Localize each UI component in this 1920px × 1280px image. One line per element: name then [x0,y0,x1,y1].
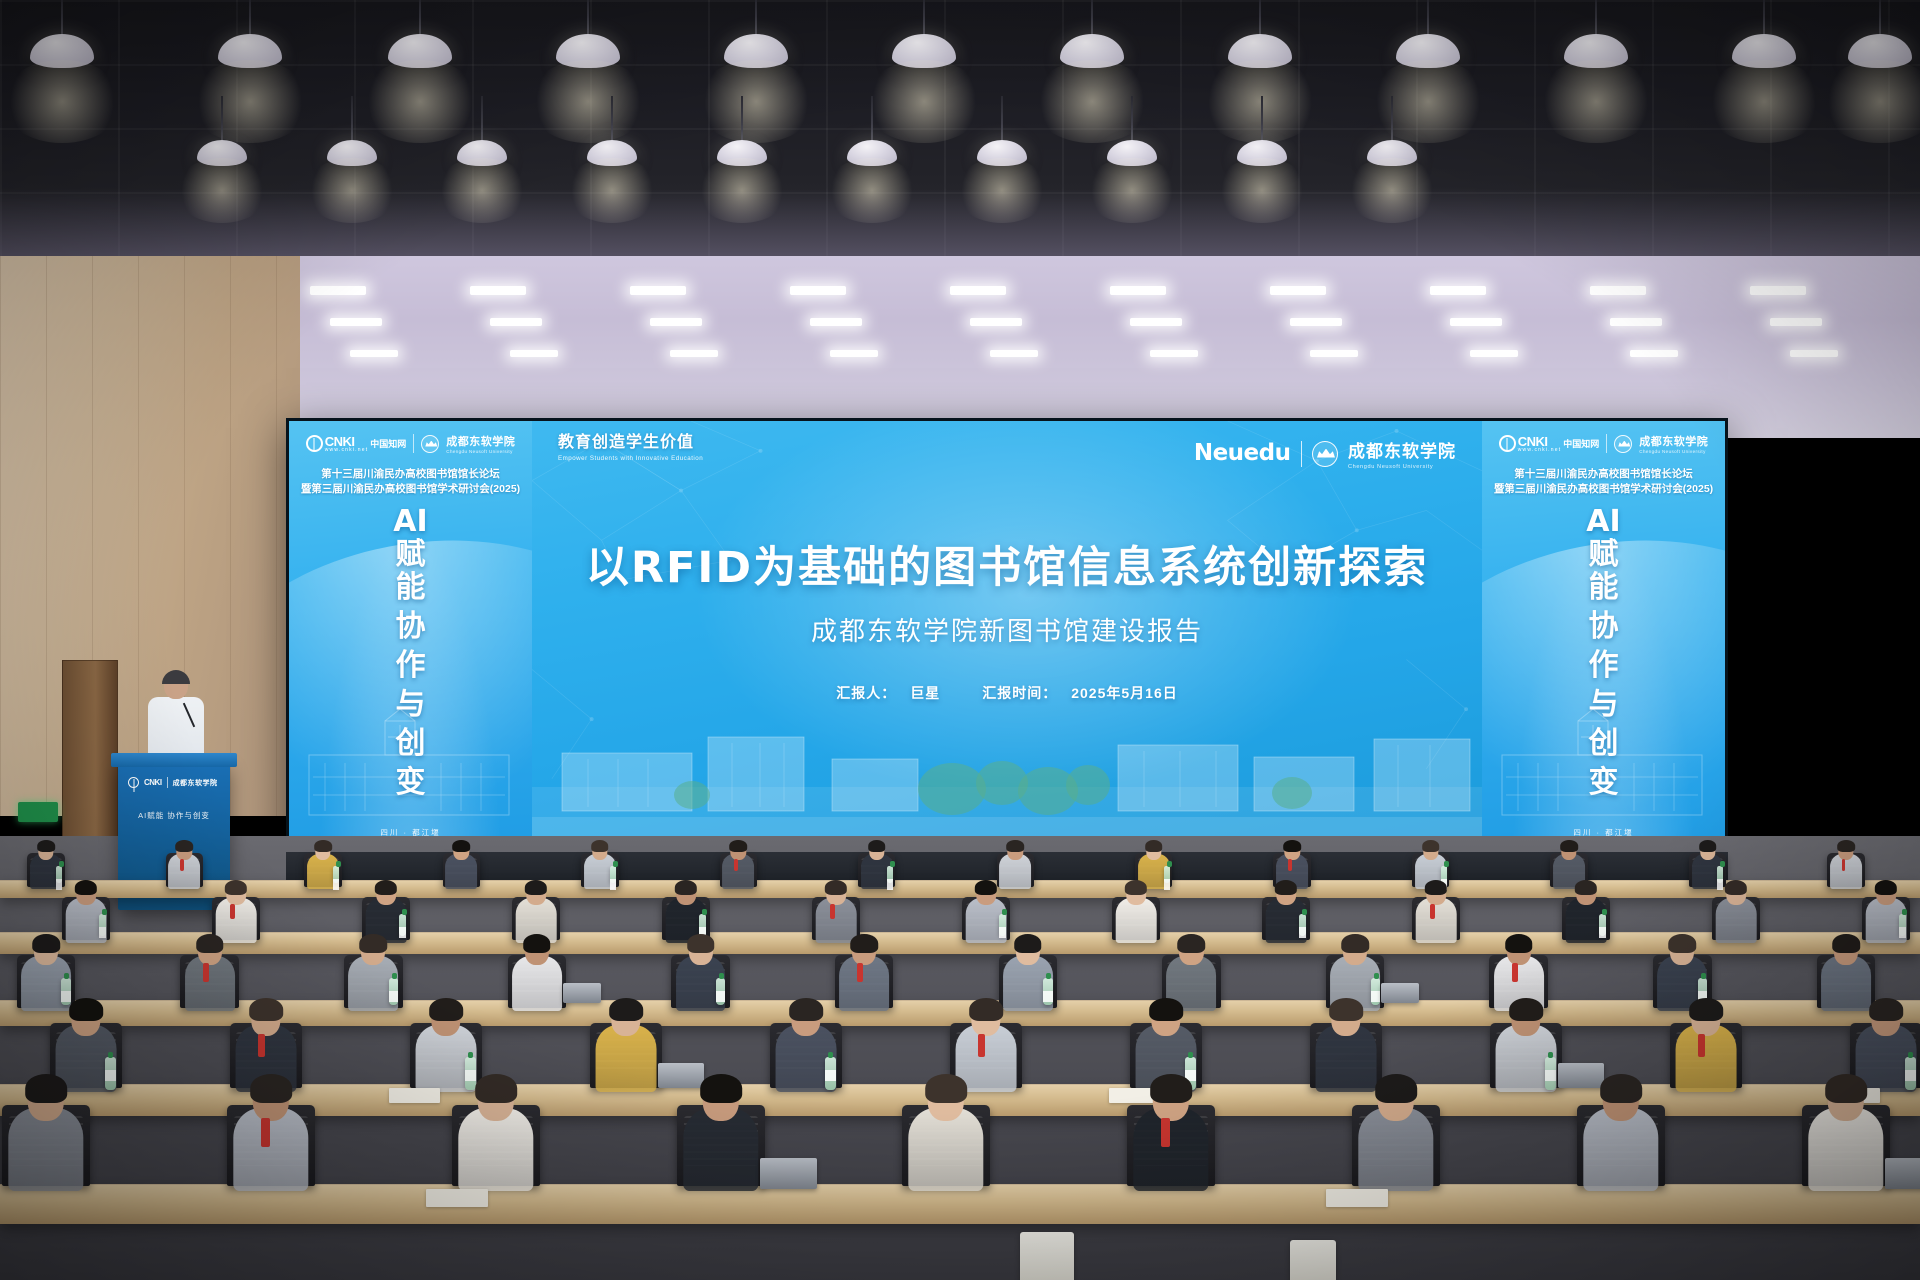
pendant-light [1564,0,1628,68]
university-name-en: Chengdu Neusoft University [446,449,515,454]
pendant-light [1107,96,1157,166]
audience-hair [868,840,886,852]
lanyard [261,1118,270,1147]
university-name-cn: 成都东软学院 [1639,433,1708,449]
audience-hair [525,880,547,895]
soffit-light [1130,318,1182,326]
audience-hair [730,840,748,852]
pendant-rod [755,0,757,34]
bottle-label [399,927,407,938]
audience-hair [523,934,551,953]
led-screen: CNKI www.cnki.net 中国知网 成都东软学院 Chengdu Ne… [286,418,1728,860]
water-bottle [56,866,62,884]
soffit-light [1450,318,1502,326]
cnki-chinese-name: 中国知网 [370,437,406,450]
soffit-light [970,318,1022,326]
pendant-rod [1259,0,1261,34]
pendant-light [717,96,767,166]
soffit-light [1150,350,1198,357]
cnki-wordmark: CNKI [144,779,162,787]
audience-member [184,934,236,1006]
slide-top-bar: 教育创造学生价值 Empower Students with Innovativ… [532,435,1482,469]
bottle-label [1043,991,1052,1002]
bottle-label [610,879,616,890]
banner-heading-line1: 第十三届川渝民办高校图书馆馆长论坛 [1490,467,1717,482]
audience-hair [969,998,1003,1021]
banner-vertical-char: 赋 [1589,540,1619,570]
bottle-label [1905,1070,1917,1081]
banner-vertical-char: 协 [396,612,426,642]
pendant-rod [587,0,589,34]
table-row [0,932,1920,954]
soffit-light [630,286,686,295]
water-bottle [1905,1057,1917,1091]
banner-vertical-char: 能 [1589,573,1619,603]
audience-member [1115,880,1157,938]
audience-hair [609,998,643,1021]
side-banner-right: CNKI www.cnki.net 中国知网 成都东软学院 Chengdu Ne… [1482,421,1725,857]
bottle-label [389,991,398,1002]
cnki-chinese-name: 中国知网 [1563,437,1599,450]
soffit-light [790,286,846,295]
paper-document [426,1189,488,1207]
audience-member [838,934,890,1006]
pendant-light [556,0,620,68]
audience-member [457,1074,535,1190]
audience-hair [925,1074,967,1103]
audience-member [1132,1074,1210,1190]
pendant-light [1237,96,1287,166]
water-bottle [825,1057,837,1091]
audience-hair [1178,934,1206,953]
presentation-slide: 教育创造学生价值 Empower Students with Innovativ… [532,421,1482,857]
audience-hair [429,998,463,1021]
pendant-rod [741,96,743,140]
audience-hair [32,934,60,953]
logo-divider [413,434,414,453]
lanyard [1512,963,1518,982]
bottle-label [1545,1070,1557,1081]
audience-hair [1425,880,1447,895]
lanyard [1430,904,1435,919]
soffit-light [830,350,878,357]
cnki-wordmark: CNKI [325,435,369,448]
speaker-hair [162,670,190,684]
audience-hair [1689,998,1723,1021]
soffit-light [950,286,1006,295]
soffit-light [1630,350,1678,357]
soffit-light [310,286,366,295]
audience-member [445,840,478,886]
soffit-light [990,350,1038,357]
pendant-light [30,0,94,68]
audience-hair [1837,840,1855,852]
audience-member [1807,1074,1885,1190]
audience-member [168,840,201,886]
soffit-light [510,350,558,357]
audience-hair [1329,998,1363,1021]
audience-hair [1014,934,1042,953]
water-bottle [399,914,407,936]
audience-hair [250,1074,292,1103]
pendant-light [587,96,637,166]
audience-hair [314,840,332,852]
pendant-light [457,96,507,166]
audience-hair [1006,840,1024,852]
audience-body [1716,898,1757,943]
paper-document [1326,1189,1388,1207]
laptop [1381,983,1419,1004]
lanyard [1698,1034,1705,1057]
lanyard [857,963,863,982]
pendant-rod [1131,96,1133,140]
soffit-light [1270,286,1326,295]
pendant-rod [1763,0,1765,34]
water-bottle [610,866,616,884]
university-name-cn: 成都东软学院 [446,433,515,449]
audience-hair [249,998,283,1021]
pendant-rod [221,96,223,140]
water-bottle [1299,914,1307,936]
audience-hair [675,880,697,895]
audience-hair [1699,840,1717,852]
audience-hair [975,880,997,895]
water-bottle [1545,1057,1557,1091]
side-banner-left: CNKI www.cnki.net 中国知网 成都东软学院 Chengdu Ne… [289,421,532,857]
water-bottle [1043,978,1052,1006]
lanyard [978,1034,985,1057]
water-bottle [999,914,1007,936]
cnki-logo-icon: CNKI www.cnki.net 中国知网 [1499,435,1600,453]
university-seal-icon [1312,441,1338,467]
banner-logo-row-right: CNKI www.cnki.net 中国知网 成都东软学院 Chengdu Ne… [1482,433,1725,454]
bottle-label [105,1070,117,1081]
audience-member [595,998,658,1090]
pendant-rod [351,96,353,140]
audience-hair [1150,1074,1192,1103]
slide-tagline-block: 教育创造学生价值 Empower Students with Innovativ… [558,435,703,462]
banner-vertical-char: 作 [1589,651,1619,681]
pendant-light [977,96,1027,166]
slide-title: 以RFID为基础的图书馆信息系统创新探索 [532,533,1482,595]
bottle-label [1299,927,1307,938]
campus-illustration [532,667,1482,857]
pendant-light [197,96,247,166]
logo-divider [167,777,168,788]
lanyard [1842,859,1846,871]
audience-hair [1149,998,1183,1021]
tote-bag [1020,1232,1074,1280]
audience-member [1715,880,1757,938]
pendant-light [847,96,897,166]
audience-hair [1725,880,1747,895]
bottle-label [1899,927,1907,938]
bottle-label [825,1070,837,1081]
laptop [760,1158,817,1189]
audience-hair [25,1074,67,1103]
soffit-light [650,318,702,326]
conference-hall-photo: CNKI www.cnki.net 中国知网 成都东软学院 Chengdu Ne… [0,0,1920,1280]
audience-member [815,880,857,938]
pendant-light [218,0,282,68]
audience-hair [850,934,878,953]
pendant-rod [923,0,925,34]
tote-bag [1290,1240,1336,1280]
audience-area [0,880,1920,1280]
soffit-light [330,318,382,326]
audience-hair [1375,1074,1417,1103]
pendant-rod [1091,0,1093,34]
audience-hair [69,998,103,1021]
lanyard [1288,859,1292,871]
audience-member [1415,880,1457,938]
slide-tagline-cn: 教育创造学生价值 [558,435,703,452]
audience-hair [176,840,194,852]
audience-hair [687,934,715,953]
audience-member [1675,998,1738,1090]
pendant-glow [1,60,123,143]
pendant-rod [1427,0,1429,34]
soffit-light [1590,286,1646,295]
audience-hair [1832,934,1860,953]
ceiling-fade [0,188,1920,258]
audience-member [1830,840,1863,886]
pendant-light [1367,96,1417,166]
audience-hair [789,998,823,1021]
banner-vertical-char: AI [393,507,427,537]
podium-university-name: 成都东软学院 [173,778,218,788]
lanyard [230,904,235,919]
led-screen-surface: CNKI www.cnki.net 中国知网 成都东软学院 Chengdu Ne… [289,421,1725,857]
water-bottle [99,914,107,936]
university-name-en: Chengdu Neusoft University [1639,449,1708,454]
audience-hair [1875,880,1897,895]
pendant-rod [871,96,873,140]
cnki-globe-icon [1499,435,1516,452]
university-seal-icon [421,435,439,453]
library-building-illustration [1482,707,1725,827]
pendant-rod [1391,96,1393,140]
soffit-light [470,286,526,295]
audience-member [682,1074,760,1190]
audience-member [1357,1074,1435,1190]
bottle-label [99,927,107,938]
soffit-light [1470,350,1518,357]
soffit-light [810,318,862,326]
banner-vertical-char: 协 [1589,612,1619,642]
pendant-light [724,0,788,68]
audience-member [515,880,557,938]
water-bottle [716,978,725,1006]
pendant-glow [1703,60,1825,143]
audience-member [7,1074,85,1190]
cnki-url: www.cnki.net [1518,448,1562,453]
bottle-label [56,879,62,890]
audience-member [232,1074,310,1190]
soffit-light [1290,318,1342,326]
pendant-light [1060,0,1124,68]
audience-hair [1575,880,1597,895]
pendant-glow [1535,60,1657,143]
audience-hair [825,880,847,895]
banner-logo-row-left: CNKI www.cnki.net 中国知网 成都东软学院 Chengdu Ne… [289,433,532,454]
audience-hair [700,1074,742,1103]
audience-hair [1125,880,1147,895]
water-bottle [389,978,398,1006]
slide-university-block: 成都东软学院 Chengdu Neusoft University [1348,437,1456,470]
audience-member [1166,934,1218,1006]
ceiling [0,0,1920,258]
lanyard [258,1034,265,1057]
banner-heading-line2: 暨第三届川渝民办高校图书馆学术研讨会(2025) [297,482,524,497]
bottle-label [887,879,893,890]
side-door [62,660,118,860]
banner-heading-line1: 第十三届川渝民办高校图书馆馆长论坛 [297,467,524,482]
audience-hair [1275,880,1297,895]
water-bottle [887,866,893,884]
podium-top [111,753,237,767]
lanyard [830,904,835,919]
water-bottle [105,1057,117,1091]
audience-member [1582,1074,1660,1190]
lanyard [203,963,209,982]
pendant-light [1732,0,1796,68]
bottle-label [1599,927,1607,938]
audience-hair [1283,840,1301,852]
cnki-wordmark: CNKI [1518,435,1562,448]
slide-university-cn: 成都东软学院 [1348,437,1456,462]
pendant-rod [481,96,483,140]
pendant-light [327,96,377,166]
water-bottle [1164,866,1170,884]
pendant-rod [249,0,251,34]
soffit-light [670,350,718,357]
lanyard [734,859,738,871]
water-bottle [333,866,339,884]
lanyard [180,859,184,871]
pendant-rod [61,0,63,34]
audience-hair [1505,934,1533,953]
banner-heading-left: 第十三届川渝民办高校图书馆馆长论坛 暨第三届川渝民办高校图书馆学术研讨会(202… [297,467,524,497]
slide-tagline-en: Empower Students with Innovative Educati… [558,455,703,462]
audience-hair [453,840,471,852]
audience-hair [1145,840,1163,852]
pendant-light [1228,0,1292,68]
audience-hair [1560,840,1578,852]
audience-hair [591,840,609,852]
exit-sign-icon [18,802,58,822]
banner-vertical-char: 能 [396,573,426,603]
cnki-globe-icon [306,435,323,452]
soffit-light [1430,286,1486,295]
podium-slogan: AI赋能 协作与创变 [128,810,220,821]
university-seal-icon [1614,435,1632,453]
slide-brand-row: Neuedu 成都东软学院 Chengdu Neusoft University [1194,437,1456,470]
water-bottle [1599,914,1607,936]
pendant-light [388,0,452,68]
slide-university-en: Chengdu Neusoft University [1348,464,1456,470]
brand-divider [1301,441,1303,467]
audience-hair [1341,934,1369,953]
audience-hair [1869,998,1903,1021]
audience-hair [375,880,397,895]
bottle-label [1164,879,1170,890]
soffit-light [1110,286,1166,295]
audience-hair [1422,840,1440,852]
podium-logo-row: CNKI 成都东软学院 [128,776,220,789]
audience-member [1820,934,1872,1006]
bottle-label [333,879,339,890]
audience-body [1416,898,1457,943]
pendant-light [1848,0,1912,68]
audience-member [722,840,755,886]
pendant-rod [1261,96,1263,140]
cnki-url: www.cnki.net [325,448,369,453]
paper-document [389,1088,439,1103]
audience-member [907,1074,985,1190]
soffit-light [490,318,542,326]
audience-hair [37,840,55,852]
audience-hair [1509,998,1543,1021]
pendant-rod [419,0,421,34]
audience-body [1116,898,1157,943]
pendant-light [1396,0,1460,68]
laptop [1885,1158,1920,1189]
audience-hair [475,1074,517,1103]
pendant-rod [611,96,613,140]
logo-divider [1606,434,1607,453]
audience-hair [1825,1074,1867,1103]
pendant-rod [1001,96,1003,140]
soffit-light [1310,350,1358,357]
lanyard [1161,1118,1170,1147]
banner-heading-line2: 暨第三届川渝民办高校图书馆学术研讨会(2025) [1490,482,1717,497]
water-bottle [1899,914,1907,936]
soffit-light [1610,318,1662,326]
audience-hair [1669,934,1697,953]
audience-member [511,934,563,1006]
library-building-illustration [289,707,532,827]
audience-hair [360,934,388,953]
pendant-light [892,0,956,68]
banner-vertical-char: 作 [396,651,426,681]
soffit-light [350,350,398,357]
audience-member [215,880,257,938]
audience-hair [225,880,247,895]
audience-member [1493,934,1545,1006]
pendant-rod [1879,0,1881,34]
water-bottle [699,914,707,936]
banner-vertical-char: 赋 [396,540,426,570]
slide-subtitle: 成都东软学院新图书馆建设报告 [532,611,1482,648]
cnki-logo-icon: CNKI www.cnki.net 中国知网 [306,435,407,453]
neuedu-wordmark: Neuedu [1194,442,1291,465]
cnki-globe-icon [128,777,139,788]
audience-hair [1600,1074,1642,1103]
table-row [0,880,1920,898]
banner-heading-right: 第十三届川渝民办高校图书馆馆长论坛 暨第三届川渝民办高校图书馆学术研讨会(202… [1490,467,1717,497]
banner-vertical-char: AI [1586,507,1620,537]
audience-hair [196,934,224,953]
audience-hair [75,880,97,895]
pendant-rod [1595,0,1597,34]
bottle-label [716,991,725,1002]
